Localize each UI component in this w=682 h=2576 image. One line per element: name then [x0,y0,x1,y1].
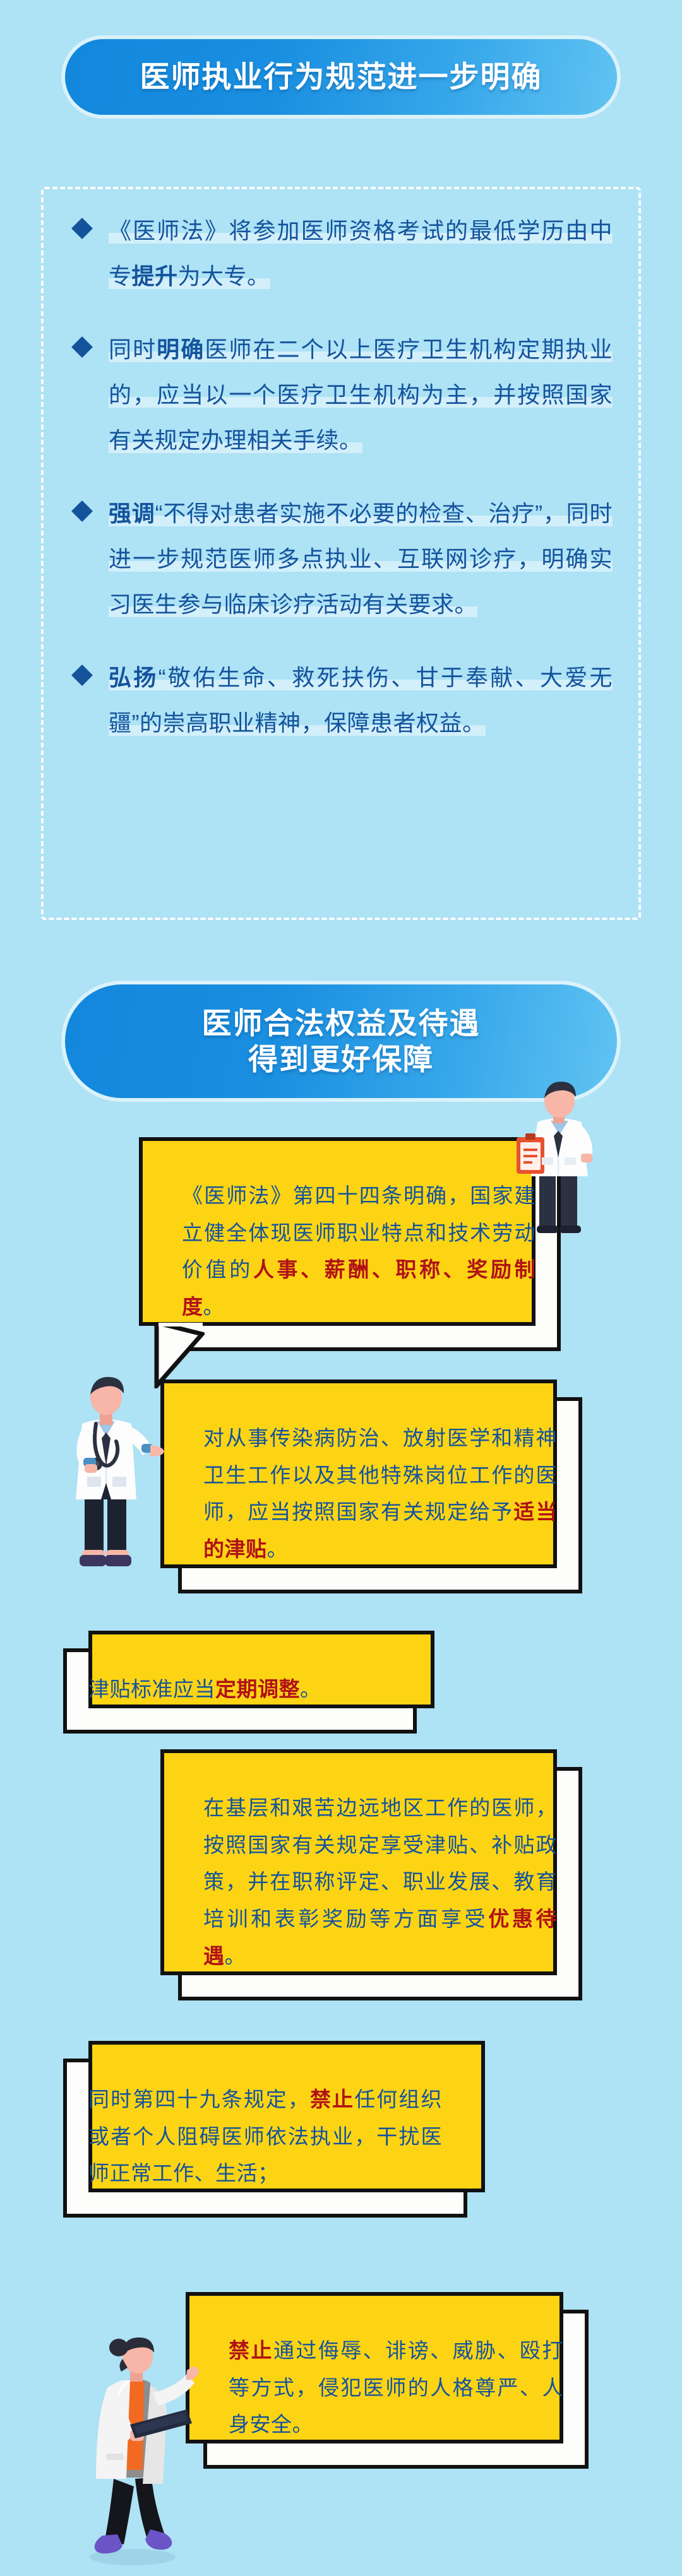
bullet-item-3: 强调“不得对患者实施不必要的检查、治疗”，同时进一步规范医师多点执业、互联网诊疗… [69,491,613,627]
bullet-4-text: 弘扬“敬佑生命、救死扶伤、甘于奉献、大爱无疆”的崇高职业精神，保障患者权益。 [109,665,613,736]
card-6: 禁止通过侮辱、诽谤、威胁、殴打等方式，侵犯医师的人格尊严、人身安全。 [203,2310,589,2469]
section2-banner-line2: 得到更好保障 [202,1041,481,1077]
bullet-2-text: 同时明确医师在二个以上医疗卫生机构定期执业的，应当以一个医疗卫生机构为主，并按照… [109,336,613,453]
female-doctor-tablet-illustration [69,2335,202,2568]
male-doctor-stethoscope-illustration [45,1366,165,1574]
bullet-1-text: 《医师法》将参加医师资格考试的最低学历由中专提升为大专。 [109,218,613,289]
diamond-bullet-icon [71,500,93,522]
male-doctor-clipboard-illustration [503,1077,616,1234]
card-4-shadow [160,1749,557,1975]
section2-banner-line1: 医师合法权益及待遇 [202,1005,481,1041]
section1-banner-title: 医师执业行为规范进一步明确 [65,39,617,115]
diamond-bullet-icon [71,336,93,358]
card-3: 津贴标准应当定期调整。 [63,1648,417,1734]
card-3-text: 津贴标准应当定期调整。 [88,1677,321,1701]
card-1: 《医师法》第四十四条明确，国家建立健全体现医师职业特点和技术劳动价值的人事、薪酬… [157,1155,561,1351]
card-2: 对从事传染病防治、放射医学和精神卫生工作以及其他特殊岗位工作的医师，应当按照国家… [178,1397,582,1593]
bullet-item-1: 《医师法》将参加医师资格考试的最低学历由中专提升为大专。 [69,208,613,299]
diamond-bullet-icon [71,665,93,686]
bullet-item-4: 弘扬“敬佑生命、救死扶伤、甘于奉献、大爱无疆”的崇高职业精神，保障患者权益。 [69,655,613,746]
diamond-bullet-icon [71,218,93,239]
section1-bullet-list: 《医师法》将参加医师资格考试的最低学历由中专提升为大专。 同时明确医师在二个以上… [69,208,613,774]
card-4: 在基层和艰苦边远地区工作的医师，按照国家有关规定享受津贴、补贴政策，并在职称评定… [178,1767,582,2000]
card-5: 同时第四十九条规定，禁止任何组织或者个人阻碍医师依法执业，干扰医师正常工作、生活… [63,2059,467,2218]
bullet-3-text: 强调“不得对患者实施不必要的检查、治疗”，同时进一步规范医师多点执业、互联网诊疗… [109,500,613,617]
bullet-item-2: 同时明确医师在二个以上医疗卫生机构定期执业的，应当以一个医疗卫生机构为主，并按照… [69,327,613,463]
